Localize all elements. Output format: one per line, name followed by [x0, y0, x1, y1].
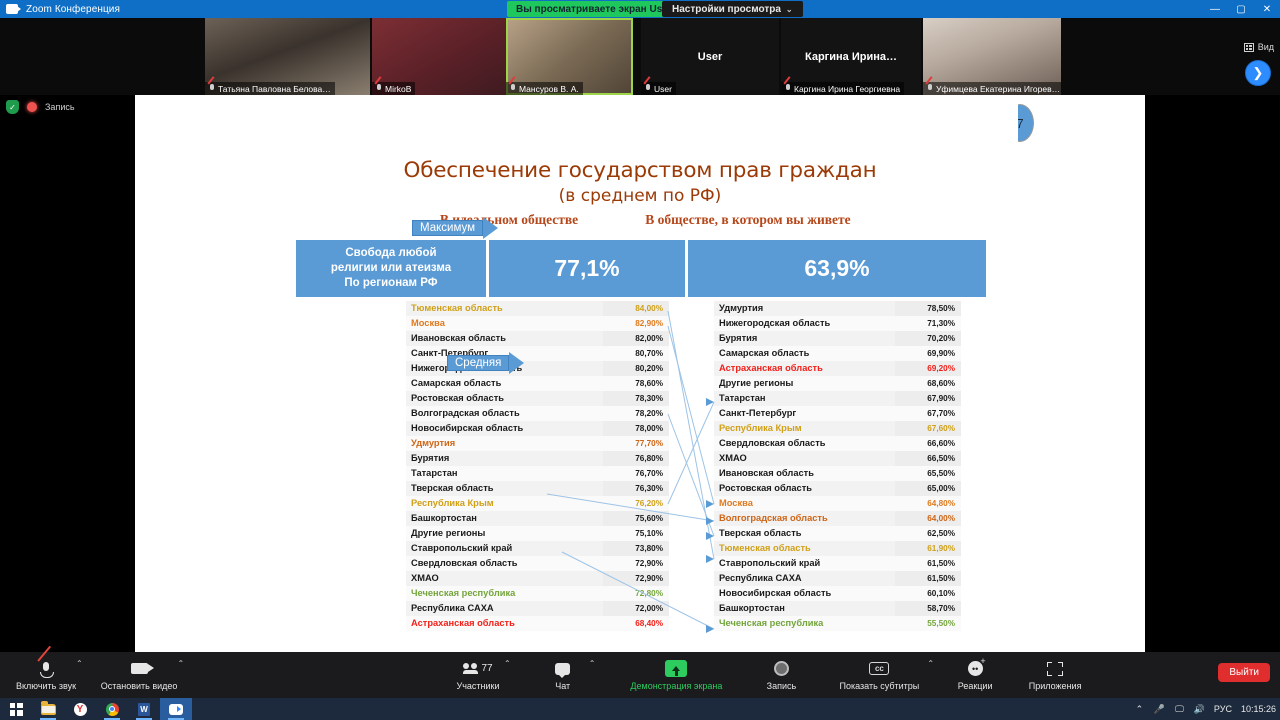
- table-row: Самарская область69,90%: [714, 346, 961, 361]
- zoom-meeting-window: Zoom Конференция Вы просматриваете экран…: [0, 0, 1280, 720]
- windows-start-icon[interactable]: [0, 698, 32, 720]
- region-name: Астраханская область: [406, 616, 603, 631]
- table-row: Нижегородская область80,20%: [406, 361, 669, 376]
- chat-caret-icon[interactable]: ⌃: [589, 659, 596, 668]
- participant-nameplate: Татьяна Павловна Белова…: [205, 82, 335, 95]
- stop-video-button[interactable]: Остановить видео: [101, 653, 178, 697]
- region-value: 58,70%: [895, 601, 961, 616]
- region-value: 75,10%: [603, 526, 669, 541]
- toolbar-center-group: 77 Участники ⌃ Чат ⌃ Демонстрация экрана: [452, 653, 1092, 697]
- region-name: Башкортостан: [406, 511, 603, 526]
- window-controls: — ▢ ✕: [1202, 0, 1280, 18]
- region-name: ХМАО: [406, 571, 603, 586]
- chevron-down-icon: ⌄: [786, 5, 793, 14]
- table-row: Тюменская область84,00%: [406, 301, 669, 316]
- share-screen-button[interactable]: Демонстрация экрана: [621, 653, 731, 697]
- participant-tile[interactable]: Татьяна Павловна Белова…: [205, 18, 370, 95]
- region-name: Новосибирская область: [406, 421, 603, 436]
- region-value: 72,90%: [603, 556, 669, 571]
- region-value: 78,20%: [603, 406, 669, 421]
- stop-video-label: Остановить видео: [101, 681, 178, 691]
- share-screen-label: Демонстрация экрана: [630, 681, 722, 691]
- region-value: 64,00%: [895, 511, 961, 526]
- arrow-right-icon: [509, 352, 524, 374]
- slide-title: Обеспечение государством прав граждан: [262, 158, 1018, 183]
- callout-average-left: Средняя: [447, 352, 524, 374]
- system-tray: ⌃ 🎤 🖵 🔊 РУС 10:15:26: [1134, 704, 1276, 715]
- participant-name: User: [654, 84, 672, 94]
- table-row: Республика Крым76,20%: [406, 496, 669, 511]
- shared-screen-area: 7 Обеспечение государством прав граждан …: [135, 95, 1145, 668]
- region-name: Ставропольский край: [406, 541, 603, 556]
- region-name: Удмуртия: [714, 301, 895, 316]
- table-row: Ивановская область82,00%: [406, 331, 669, 346]
- microphone-muted-icon: [39, 660, 53, 678]
- view-layout-button[interactable]: Вид: [1244, 42, 1274, 52]
- participant-nameplate: User: [641, 82, 676, 95]
- header-metric-line2: религии или атеизма: [331, 261, 451, 276]
- region-value: 75,60%: [603, 511, 669, 526]
- region-value: 78,60%: [603, 376, 669, 391]
- table-row: Нижегородская область71,30%: [714, 316, 961, 331]
- callout-maximum: Максимум: [412, 217, 498, 239]
- region-value: 76,20%: [603, 496, 669, 511]
- region-name: Другие регионы: [406, 526, 603, 541]
- participants-label: Участники: [457, 681, 500, 691]
- region-value: 80,20%: [603, 361, 669, 376]
- region-value: 67,70%: [895, 406, 961, 421]
- region-name: Башкортостан: [714, 601, 895, 616]
- region-value: 72,90%: [603, 571, 669, 586]
- tray-clock[interactable]: 10:15:26: [1241, 704, 1276, 714]
- region-value: 61,50%: [895, 556, 961, 571]
- region-value: 80,70%: [603, 346, 669, 361]
- participant-filmstrip: Татьяна Павловна Белова… MirkoB Мансуров…: [0, 18, 1280, 95]
- region-value: 62,50%: [895, 526, 961, 541]
- apps-button[interactable]: Приложения: [1018, 653, 1092, 697]
- grid-view-icon: [1244, 43, 1254, 52]
- region-name: Чеченская республика: [714, 616, 895, 631]
- region-value: 68,60%: [895, 376, 961, 391]
- table-row: Астраханская область68,40%: [406, 616, 669, 631]
- unmute-label: Включить звук: [16, 681, 76, 691]
- table-row: Новосибирская область78,00%: [406, 421, 669, 436]
- table-row: Бурятия70,20%: [714, 331, 961, 346]
- region-name: Татарстан: [406, 466, 603, 481]
- record-label: Запись: [767, 681, 797, 691]
- maximize-button[interactable]: ▢: [1228, 0, 1254, 18]
- leave-meeting-button[interactable]: Выйти: [1218, 663, 1270, 682]
- slide-subtitle: (в среднем по РФ): [262, 186, 1018, 206]
- tray-language[interactable]: РУС: [1214, 704, 1232, 714]
- filmstrip-next-button[interactable]: ❯: [1245, 60, 1271, 86]
- region-name: Чеченская республика: [406, 586, 603, 601]
- tray-display-icon[interactable]: 🖵: [1174, 704, 1185, 715]
- header-metric-line1: Свобода любой: [345, 246, 436, 261]
- region-value: 78,50%: [895, 301, 961, 316]
- region-value: 64,80%: [895, 496, 961, 511]
- presentation-slide: Обеспечение государством прав граждан (в…: [262, 104, 1018, 660]
- file-explorer-icon[interactable]: [32, 698, 64, 720]
- region-value: 55,50%: [895, 616, 961, 631]
- region-name: Свердловская область: [406, 556, 603, 571]
- participant-name: Уфимцева Екатерина Игорев…: [936, 84, 1060, 94]
- title-bar: Zoom Конференция Вы просматриваете экран…: [0, 0, 1280, 18]
- tray-volume-icon[interactable]: 🔊: [1194, 704, 1205, 715]
- table-row: Другие регионы75,10%: [406, 526, 669, 541]
- recording-label: Запись: [45, 102, 75, 112]
- view-options-label: Настройки просмотра: [672, 4, 781, 15]
- region-value: 76,80%: [603, 451, 669, 466]
- view-options-button[interactable]: Настройки просмотра ⌄: [662, 1, 803, 17]
- chat-button[interactable]: Чат: [537, 653, 589, 697]
- window-title: Zoom Конференция: [26, 4, 120, 15]
- google-chrome-icon[interactable]: [96, 698, 128, 720]
- region-name: ХМАО: [714, 451, 895, 466]
- table-row: Тверская область62,50%: [714, 526, 961, 541]
- table-row: Татарстан67,90%: [714, 391, 961, 406]
- region-name: Тверская область: [714, 526, 895, 541]
- reactions-label: Реакции: [958, 681, 993, 691]
- participant-tile[interactable]: User User: [641, 18, 779, 95]
- participant-name: MirkoB: [385, 84, 411, 94]
- region-value: 84,00%: [603, 301, 669, 316]
- header-value-ideal: 77,1%: [489, 240, 685, 297]
- region-value: 70,20%: [895, 331, 961, 346]
- slide-legend: В идеальном обществе В обществе, в котор…: [262, 212, 1018, 228]
- table-row: Ставропольский край61,50%: [714, 556, 961, 571]
- table-row: Татарстан76,70%: [406, 466, 669, 481]
- reactions-button[interactable]: •• Реакции: [946, 653, 1004, 697]
- tray-expand-icon[interactable]: ⌃: [1134, 704, 1145, 715]
- region-value: 72,80%: [603, 586, 669, 601]
- unmute-button[interactable]: Включить звук: [16, 653, 76, 697]
- table-row: Республика САХА61,50%: [714, 571, 961, 586]
- table-row: ХМАО72,90%: [406, 571, 669, 586]
- region-value: 78,00%: [603, 421, 669, 436]
- table-row: Башкортостан58,70%: [714, 601, 961, 616]
- participant-nameplate: Уфимцева Екатерина Игорев…: [923, 82, 1061, 95]
- region-value: 73,80%: [603, 541, 669, 556]
- region-value: 65,50%: [895, 466, 961, 481]
- captions-button[interactable]: cc Показать субтитры: [831, 653, 927, 697]
- region-value: 69,90%: [895, 346, 961, 361]
- arrow-right-icon: [483, 217, 498, 239]
- table-header-row: Свобода любой религии или атеизма По рег…: [296, 240, 986, 297]
- participants-icon: 77: [463, 660, 492, 678]
- shield-icon[interactable]: ✓: [6, 100, 19, 114]
- region-name: Республика САХА: [406, 601, 603, 616]
- table-row: Санкт-Петербург67,70%: [714, 406, 961, 421]
- region-name: Самарская область: [406, 376, 603, 391]
- region-name: Новосибирская область: [714, 586, 895, 601]
- table-row: Чеченская республика72,80%: [406, 586, 669, 601]
- windows-taskbar: Y W ⌃ 🎤 🖵 🔊 РУС 10:15:26: [0, 698, 1280, 720]
- participants-caret-icon[interactable]: ⌃: [504, 659, 511, 668]
- record-button[interactable]: Запись: [753, 653, 809, 697]
- region-value: 61,90%: [895, 541, 961, 556]
- participant-tile[interactable]: Уфимцева Екатерина Игорев…: [923, 18, 1061, 95]
- region-name: Республика Крым: [406, 496, 603, 511]
- table-row: Бурятия76,80%: [406, 451, 669, 466]
- close-button[interactable]: ✕: [1254, 0, 1280, 18]
- participant-nameplate: Мансуров В. А.: [506, 82, 583, 95]
- region-value: 65,00%: [895, 481, 961, 496]
- region-name: Другие регионы: [714, 376, 895, 391]
- participants-button[interactable]: 77 Участники: [452, 653, 504, 697]
- table-row: Ивановская область65,50%: [714, 466, 961, 481]
- region-value: 61,50%: [895, 571, 961, 586]
- table-row: Новосибирская область60,10%: [714, 586, 961, 601]
- record-icon: [774, 660, 789, 678]
- region-value: 67,90%: [895, 391, 961, 406]
- participant-tile[interactable]: MirkoB: [372, 18, 514, 95]
- region-name: Ставропольский край: [714, 556, 895, 571]
- table-row: Тверская область76,30%: [406, 481, 669, 496]
- table-row: Свердловская область66,60%: [714, 436, 961, 451]
- region-name: Тверская область: [406, 481, 603, 496]
- table-actual-society: Удмуртия78,50%Нижегородская область71,30…: [714, 301, 961, 631]
- region-name: Астраханская область: [714, 361, 895, 376]
- table-row: Ростовская область78,30%: [406, 391, 669, 406]
- table-row: Волгоградская область64,00%: [714, 511, 961, 526]
- table-row: Башкортостан75,60%: [406, 511, 669, 526]
- participant-tile[interactable]: Мансуров В. А.: [506, 18, 633, 95]
- chat-icon: [555, 660, 570, 678]
- table-row: Волгоградская область78,20%: [406, 406, 669, 421]
- mic-muted-icon: [645, 84, 651, 93]
- participant-name: Татьяна Павловна Белова…: [218, 84, 331, 94]
- table-row: Ставропольский край73,80%: [406, 541, 669, 556]
- table-row: Москва82,90%: [406, 316, 669, 331]
- apps-icon: [1047, 660, 1063, 678]
- table-row: ХМАО66,50%: [714, 451, 961, 466]
- table-row: Тюменская область61,90%: [714, 541, 961, 556]
- mic-muted-icon: [510, 84, 516, 93]
- camera-icon: [131, 660, 148, 678]
- chat-label: Чат: [555, 681, 570, 691]
- table-row: Другие регионы68,60%: [714, 376, 961, 391]
- region-value: 76,70%: [603, 466, 669, 481]
- tray-microphone-icon[interactable]: 🎤: [1154, 704, 1165, 715]
- reactions-icon: ••: [968, 660, 983, 678]
- region-name: Республика САХА: [714, 571, 895, 586]
- region-name: Москва: [406, 316, 603, 331]
- minimize-button[interactable]: —: [1202, 0, 1228, 18]
- table-row: Республика САХА72,00%: [406, 601, 669, 616]
- region-name: Свердловская область: [714, 436, 895, 451]
- table-row: Свердловская область72,90%: [406, 556, 669, 571]
- region-name: Москва: [714, 496, 895, 511]
- region-value: 60,10%: [895, 586, 961, 601]
- region-value: 76,30%: [603, 481, 669, 496]
- region-value: 82,90%: [603, 316, 669, 331]
- region-value: 77,70%: [603, 436, 669, 451]
- table-row: Санкт-Петербург80,70%: [406, 346, 669, 361]
- region-name: Бурятия: [406, 451, 603, 466]
- region-name: Тюменская область: [714, 541, 895, 556]
- region-name: Республика Крым: [714, 421, 895, 436]
- region-value: 72,00%: [603, 601, 669, 616]
- header-metric-line3: По регионам РФ: [344, 276, 437, 291]
- record-dot-icon: [27, 102, 37, 112]
- callout-maximum-label: Максимум: [412, 220, 483, 236]
- region-name: Татарстан: [714, 391, 895, 406]
- table-row: Чеченская республика55,50%: [714, 616, 961, 631]
- mic-muted-icon: [209, 84, 215, 93]
- region-name: Бурятия: [714, 331, 895, 346]
- zoom-logo-icon: [6, 4, 18, 14]
- participant-name: Мансуров В. А.: [519, 84, 579, 94]
- recording-indicator: ✓ Запись: [6, 100, 75, 114]
- apps-label: Приложения: [1029, 681, 1082, 691]
- region-name: Ростовская область: [714, 481, 895, 496]
- region-value: 68,40%: [603, 616, 669, 631]
- region-value: 66,50%: [895, 451, 961, 466]
- table-row: Астраханская область69,20%: [714, 361, 961, 376]
- region-value: 78,30%: [603, 391, 669, 406]
- meeting-toolbar: Включить звук ⌃ Остановить видео ⌃ 77 Уч…: [0, 652, 1280, 698]
- share-screen-icon: [665, 660, 687, 678]
- region-name: Нижегородская область: [714, 316, 895, 331]
- mic-muted-icon: [927, 84, 933, 93]
- table-row: Самарская область78,60%: [406, 376, 669, 391]
- screen-share-badge: Вы просматриваете экран User: [507, 1, 681, 17]
- table-row: Удмуртия78,50%: [714, 301, 961, 316]
- region-name: Ростовская область: [406, 391, 603, 406]
- region-name: Ивановская область: [714, 466, 895, 481]
- region-name: Волгоградская область: [406, 406, 603, 421]
- callout-average-left-label: Средняя: [447, 355, 509, 371]
- table-row: Ростовская область65,00%: [714, 481, 961, 496]
- participant-nameplate: Каргина Ирина Георгиевна: [781, 82, 904, 95]
- table-row: Удмуртия77,70%: [406, 436, 669, 451]
- microsoft-word-icon[interactable]: W: [128, 698, 160, 720]
- closed-captions-icon: cc: [869, 660, 889, 678]
- table-row: Москва64,80%: [714, 496, 961, 511]
- participant-tile[interactable]: Каргина Ирина… Каргина Ирина Георгиевна: [781, 18, 921, 95]
- header-metric-label: Свобода любой религии или атеизма По рег…: [296, 240, 486, 297]
- participant-name: Каргина Ирина Георгиевна: [794, 84, 900, 94]
- region-name: Ивановская область: [406, 331, 603, 346]
- header-value-actual: 63,9%: [688, 240, 986, 297]
- video-options-caret-icon[interactable]: ⌃: [177, 659, 184, 668]
- region-name: Волгоградская область: [714, 511, 895, 526]
- region-name: Тюменская область: [406, 301, 603, 316]
- participant-nameplate: MirkoB: [372, 82, 415, 95]
- region-value: 67,60%: [895, 421, 961, 436]
- region-name: Удмуртия: [406, 436, 603, 451]
- region-value: 71,30%: [895, 316, 961, 331]
- view-layout-label: Вид: [1258, 42, 1274, 52]
- captions-label: Показать субтитры: [840, 681, 920, 691]
- yandex-browser-icon[interactable]: Y: [64, 698, 96, 720]
- audio-options-caret-icon[interactable]: ⌃: [76, 659, 83, 668]
- table-ideal-society: Тюменская область84,00%Москва82,90%Ивано…: [406, 301, 669, 631]
- table-row: Республика Крым67,60%: [714, 421, 961, 436]
- mic-muted-icon: [785, 84, 791, 93]
- legend-actual-society: В обществе, в котором вы живете: [622, 212, 874, 228]
- mic-muted-icon: [376, 84, 382, 93]
- region-value: 82,00%: [603, 331, 669, 346]
- region-name: Санкт-Петербург: [714, 406, 895, 421]
- captions-caret-icon[interactable]: ⌃: [927, 659, 934, 668]
- participants-count: 77: [481, 663, 492, 674]
- region-value: 69,20%: [895, 361, 961, 376]
- region-name: Самарская область: [714, 346, 895, 361]
- zoom-taskbar-icon[interactable]: [160, 698, 192, 720]
- region-value: 66,60%: [895, 436, 961, 451]
